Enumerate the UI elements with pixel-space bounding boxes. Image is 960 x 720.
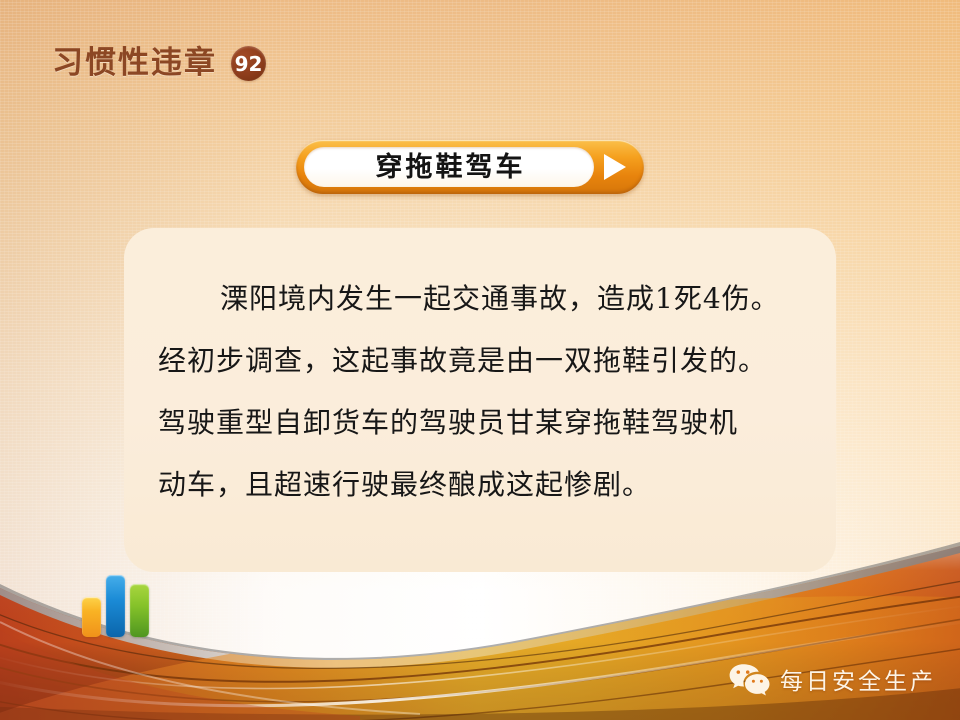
green-bar (130, 584, 149, 637)
topic-banner-inner: 穿拖鞋驾车 (304, 147, 594, 187)
play-triangle-icon[interactable] (594, 152, 634, 182)
slide-canvas: 习惯性违章 92 穿拖鞋驾车 溧阳境内发生一起交通事故，造成1死4伤。 经初步调… (0, 0, 960, 720)
content-line: 经初步调查，这起事故竟是由一双拖鞋引发的。 (158, 330, 802, 392)
bar-chart-logo (82, 572, 152, 637)
content-line: 动车，且超速行驶最终酿成这起惨剧。 (158, 454, 802, 516)
page-title: 习惯性违章 (52, 48, 217, 79)
content-line: 驾驶重型自卸货车的驾驶员甘某穿拖鞋驾驶机 (158, 392, 802, 454)
topic-banner-label: 穿拖鞋驾车 (373, 154, 526, 181)
wechat-account-name: 每日安全生产 (780, 662, 936, 696)
content-line: 溧阳境内发生一起交通事故，造成1死4伤。 (158, 268, 802, 330)
blue-bar (106, 575, 125, 637)
wechat-icon (728, 662, 770, 696)
orange-bar (82, 597, 101, 637)
page-number-badge: 92 (231, 46, 266, 81)
topic-banner[interactable]: 穿拖鞋驾车 (296, 140, 644, 194)
content-card: 溧阳境内发生一起交通事故，造成1死4伤。 经初步调查，这起事故竟是由一双拖鞋引发… (124, 228, 836, 572)
wechat-watermark: 每日安全生产 (728, 662, 936, 696)
slide-header: 习惯性违章 92 (52, 46, 266, 81)
